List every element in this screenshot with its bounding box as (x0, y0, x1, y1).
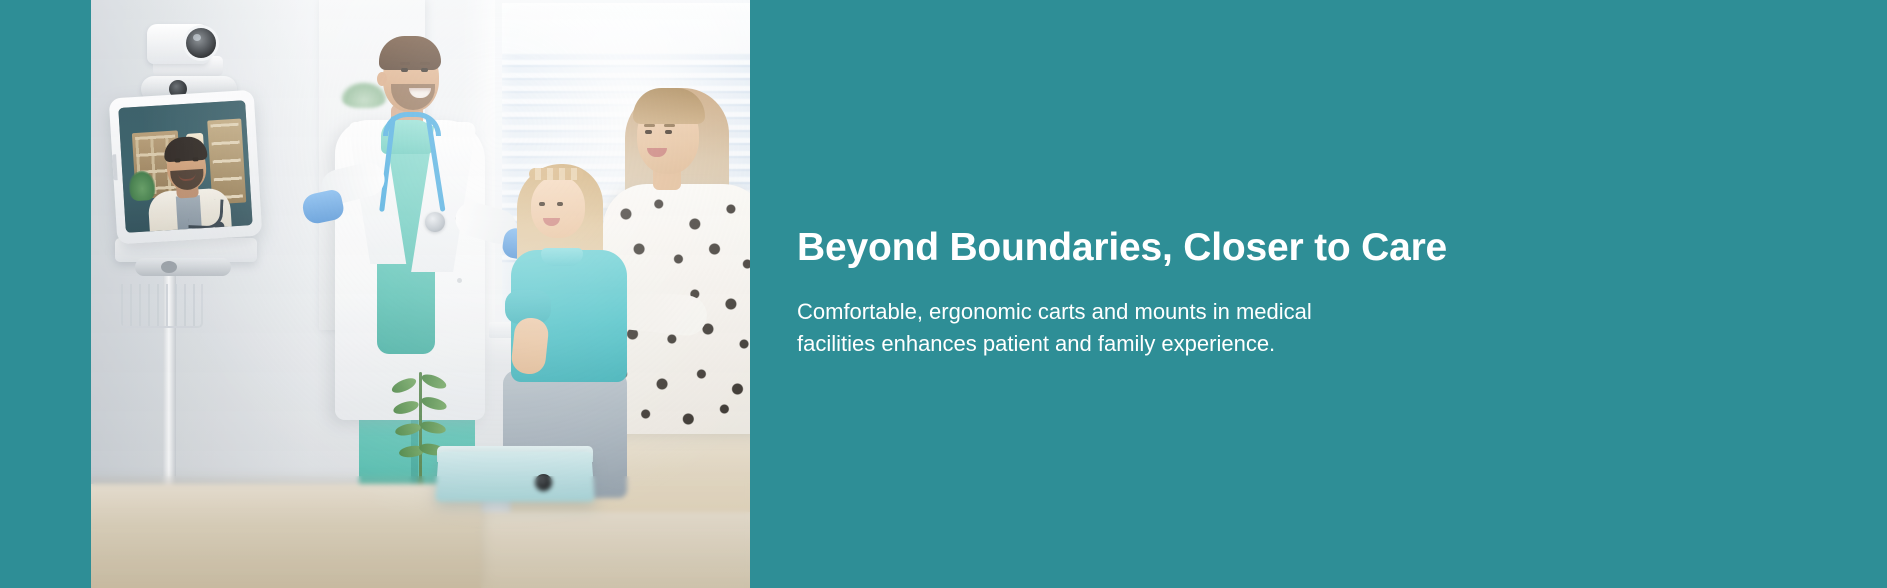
plant-leaf (420, 372, 448, 392)
doctor-brow-left (400, 62, 410, 65)
child-eye-right (557, 202, 563, 206)
child-braid (529, 168, 583, 180)
device-port-icon (535, 474, 552, 491)
camera-lens-icon (186, 28, 216, 58)
mother-brow-left (644, 124, 655, 127)
seated-child (511, 164, 651, 494)
stethoscope-bell-icon (425, 212, 445, 232)
plant-stem (419, 372, 422, 492)
doctor-brow-right (420, 62, 430, 65)
exam-room-scene (91, 0, 750, 588)
remote-doctor-eye-left (174, 158, 180, 162)
doctor-coat-button-2 (457, 278, 462, 283)
foreground-table (91, 484, 481, 588)
teal-medical-device (435, 452, 595, 502)
hero-subcopy-line-2: facilities enhances patient and family e… (797, 328, 1397, 361)
tablet-side-button (112, 154, 118, 180)
page-title: Beyond Boundaries, Closer to Care (797, 227, 1797, 270)
doctor-eye-right (421, 68, 428, 72)
plant-leaf (419, 419, 447, 435)
remote-doctor-eye-right (192, 157, 198, 161)
doctor-eye-left (401, 68, 408, 72)
hero-banner: Beyond Boundaries, Closer to Care Comfor… (0, 0, 1887, 588)
cart-basket (119, 284, 203, 328)
mother-hair-top (633, 88, 705, 124)
child-head (531, 176, 585, 238)
telehealth-tablet (109, 90, 263, 245)
hero-subcopy: Comfortable, ergonomic carts and mounts … (797, 296, 1397, 361)
child-collar (541, 248, 583, 266)
mother-eye-left (645, 130, 652, 134)
doctor-hair (379, 36, 441, 70)
plant-leaf (390, 375, 418, 396)
tablet-screen (118, 100, 252, 233)
plant-leaf (394, 421, 422, 437)
plant-leaf (392, 399, 420, 417)
mother-eye-right (665, 130, 672, 134)
doctor-ear (377, 72, 387, 86)
cart-joint (135, 258, 231, 276)
hero-photo (91, 0, 750, 588)
hero-text-panel: Beyond Boundaries, Closer to Care Comfor… (797, 0, 1797, 588)
plant-leaf (420, 395, 448, 413)
remote-stethoscope-icon (188, 198, 223, 229)
mother-brow-right (664, 124, 675, 127)
child-eye-left (539, 202, 545, 206)
hero-subcopy-line-1: Comfortable, ergonomic carts and mounts … (797, 296, 1397, 329)
